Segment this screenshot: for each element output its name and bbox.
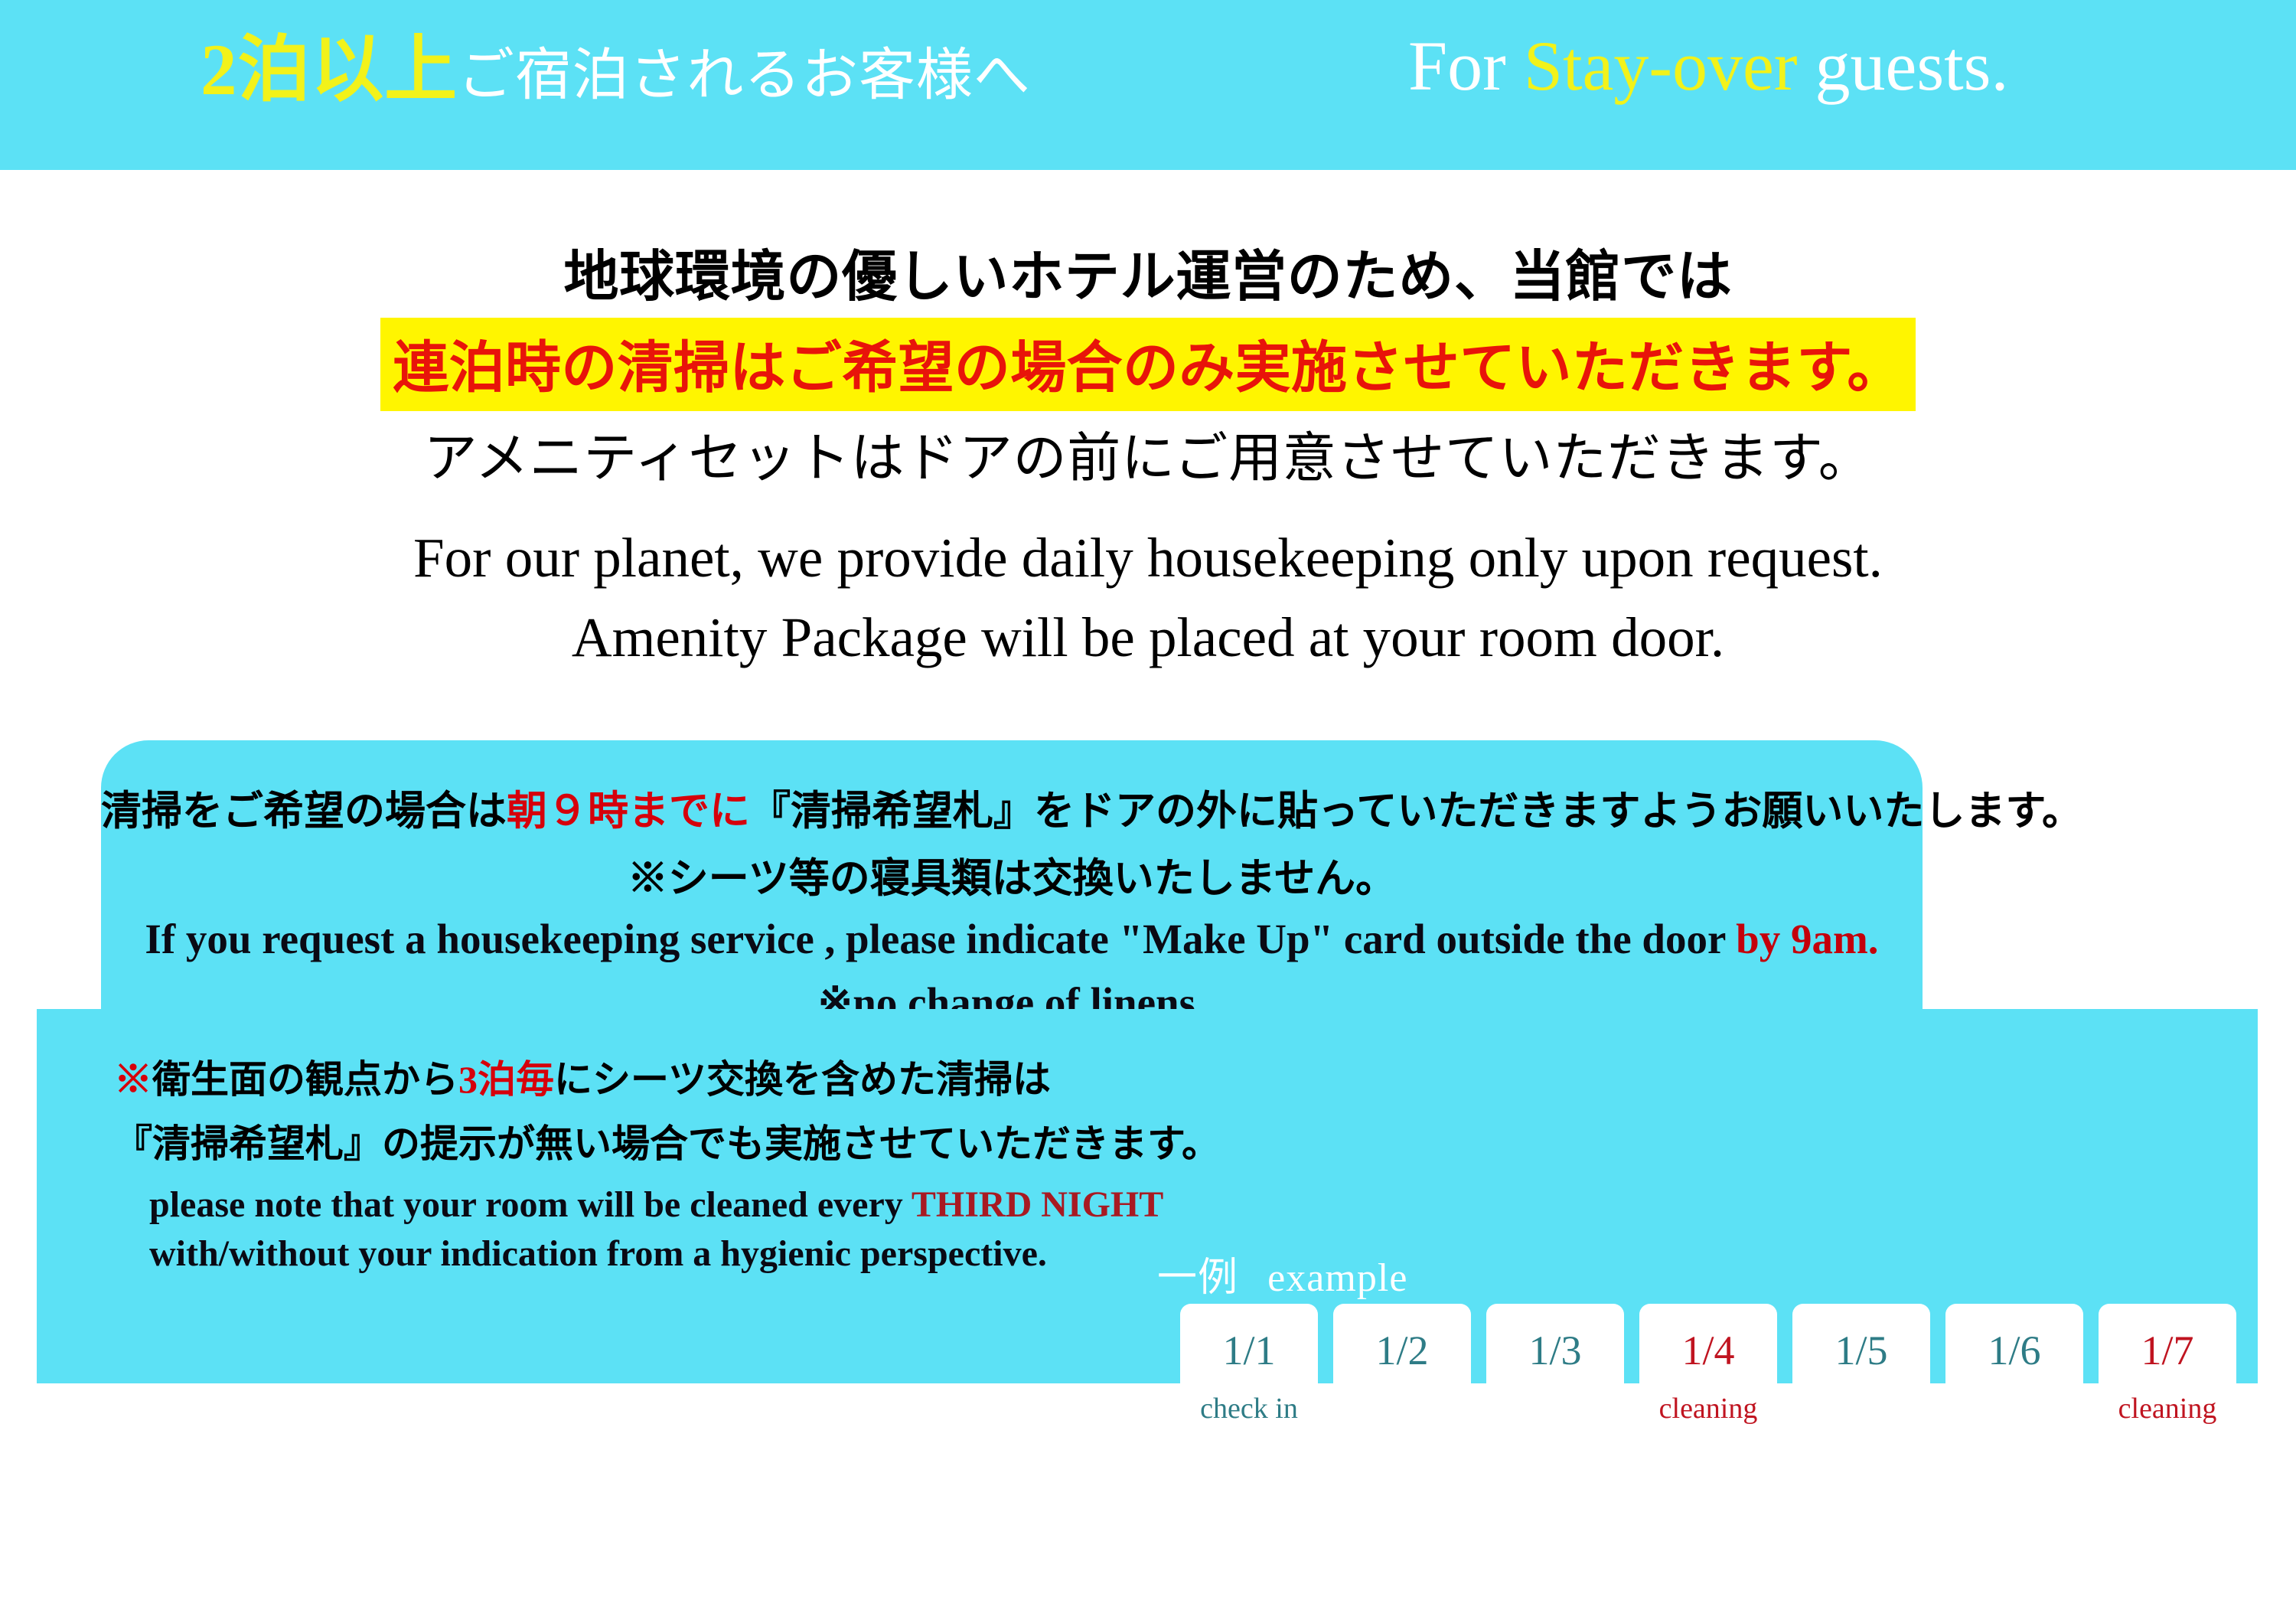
header-en-pre: For	[1408, 27, 1524, 105]
day-card: 1/1check in	[1180, 1304, 1318, 1491]
policy-highlight-japanese: 連泊時の清掃はご希望の場合のみ実施させていただきます。	[380, 318, 1916, 411]
example-label-japanese: 一例	[1157, 1256, 1238, 1300]
hygiene-text-column: ※衛生面の観点から3泊毎にシーツ交換を含めた清掃は 『清掃希望札』の提示が無い場…	[79, 1009, 1212, 1383]
hygiene-jp-part-a: 衛生面の観点から	[152, 1058, 458, 1101]
request-japanese-line-1: 清掃をご希望の場合は朝９時までに『清掃希望札』をドアの外に貼っていただきますよう…	[101, 779, 1923, 837]
request-jp-part-b: 『清掃希望札』をドアの外に貼っていただきますようお願いいたします。	[750, 789, 2082, 834]
request-jp-part-a: 清掃をご希望の場合は	[101, 789, 507, 834]
day-card-date: 1/5	[1835, 1330, 1887, 1371]
day-card-date: 1/6	[1988, 1330, 2040, 1371]
header-english-title: For Stay-over guests.	[1408, 31, 2008, 101]
hygiene-english-line-2: with/without your indication from a hygi…	[149, 1233, 1047, 1275]
hygiene-jp-part-b: にシーツ交換を含めた清掃は	[554, 1058, 1051, 1101]
day-card-date: 1/3	[1528, 1330, 1581, 1371]
example-label: 一例example	[1157, 1245, 1408, 1302]
hygiene-en-part-a: please note that your room will be clean…	[149, 1184, 912, 1225]
day-card: 1/7cleaning	[2099, 1304, 2236, 1491]
day-card: 1/3	[1486, 1304, 1624, 1491]
policy-highlight-row: 連泊時の清掃はご希望の場合のみ実施させていただきます。	[0, 318, 2296, 411]
day-card-note: cleaning	[2118, 1394, 2217, 1423]
day-card: 1/6	[1945, 1304, 2083, 1491]
policy-intro-japanese: 地球環境の優しいホテル運営のため、当館では	[0, 231, 2296, 312]
header-en-post: guests.	[1797, 27, 2008, 105]
day-card-date: 1/7	[2141, 1330, 2193, 1371]
policy-english-block: For our planet, we provide daily houseke…	[0, 518, 2296, 677]
example-calendar: 1/1check in1/21/31/4cleaning1/51/61/7cle…	[1180, 1304, 2236, 1491]
hygiene-english-line-1: please note that your room will be clean…	[149, 1184, 1163, 1226]
day-card-date: 1/2	[1375, 1330, 1428, 1371]
day-card: 1/2	[1333, 1304, 1471, 1491]
request-en-deadline: by 9am.	[1736, 916, 1878, 962]
request-en-part-a: If you request a housekeeping service , …	[145, 916, 1736, 962]
hygiene-jp-interval: 3泊毎	[458, 1058, 554, 1101]
hygiene-en-interval: THIRD NIGHT	[912, 1184, 1163, 1225]
header-jp-rest: ご宿泊されるお客様へ	[458, 44, 1031, 107]
day-card-note: check in	[1200, 1394, 1298, 1423]
day-card-date: 1/4	[1681, 1330, 1734, 1371]
policy-english-line-2: Amenity Package will be placed at your r…	[0, 598, 2296, 678]
header-japanese-title: 2泊以上ご宿泊されるお客様へ	[201, 34, 1031, 106]
day-card: 1/4cleaning	[1639, 1304, 1777, 1491]
request-jp-deadline: 朝９時までに	[507, 789, 750, 834]
hygiene-jp-mark: ※	[114, 1058, 152, 1101]
header-en-highlight: Stay-over	[1524, 27, 1798, 105]
policy-english-line-1: For our planet, we provide daily houseke…	[0, 518, 2296, 598]
example-label-english: example	[1267, 1256, 1407, 1300]
hygiene-japanese-line-2: 『清掃希望札』の提示が無い場合でも実施させていただきます。	[114, 1113, 1220, 1168]
request-english-line-1: If you request a housekeeping service , …	[101, 915, 1923, 963]
day-card-date: 1/1	[1222, 1330, 1275, 1371]
amenity-note-japanese: アメニティセットはドアの前にご用意させていただきます。	[0, 415, 2296, 492]
header-jp-highlight: 2泊以上	[201, 29, 458, 110]
request-japanese-line-2: ※シーツ等の寝具類は交換いたしません。	[101, 846, 1923, 904]
hygiene-japanese-line-1: ※衛生面の観点から3泊毎にシーツ交換を含めた清掃は	[114, 1049, 1051, 1104]
day-card-note: cleaning	[1659, 1394, 1758, 1423]
header-banner: 2泊以上ご宿泊されるお客様へ For Stay-over guests.	[0, 0, 2296, 170]
day-card: 1/5	[1792, 1304, 1930, 1491]
